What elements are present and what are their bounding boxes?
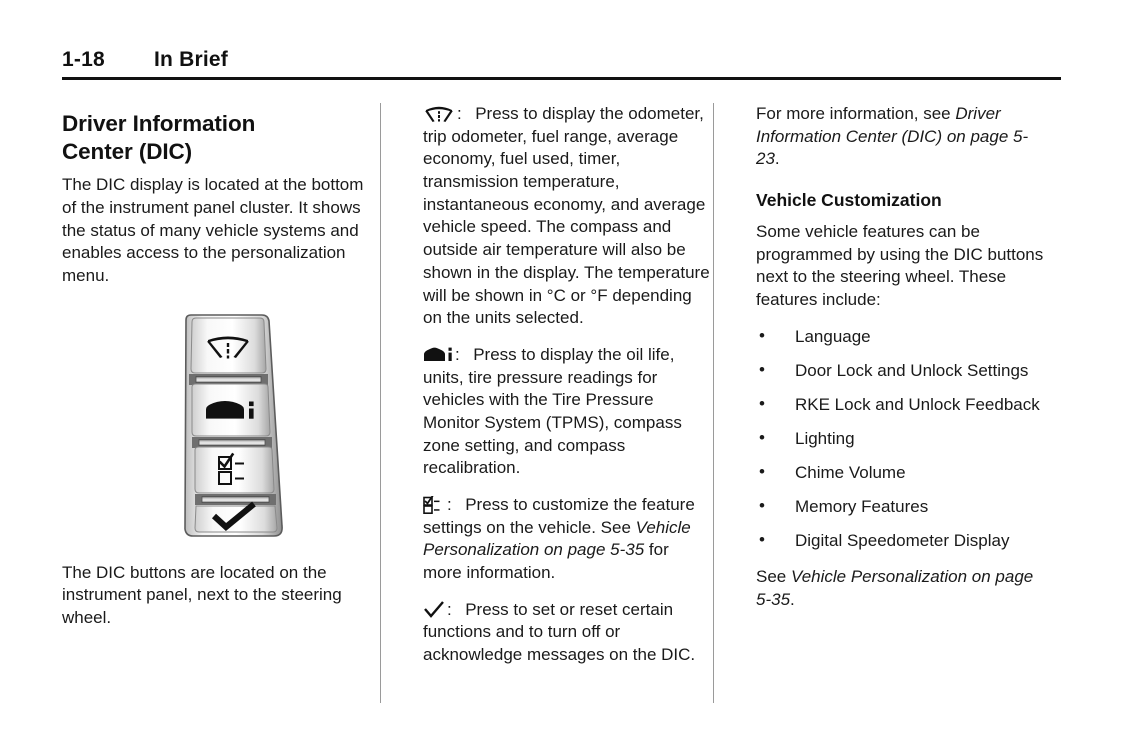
list-item: •Chime Volume [756, 462, 1045, 485]
vehicle-info-icon [423, 346, 453, 364]
see-paragraph-before: See [756, 567, 791, 586]
customization-feature-list: •Language •Door Lock and Unlock Settings… [756, 326, 1045, 553]
bullet-glyph: • [759, 427, 765, 450]
header-row: 1-18 In Brief [62, 48, 1061, 72]
section-heading-line-2: Center (DIC) [62, 139, 192, 164]
list-item: •RKE Lock and Unlock Feedback [756, 394, 1045, 417]
manual-page: 1-18 In Brief Driver InformationCenter (… [0, 0, 1123, 750]
section-heading: Driver InformationCenter (DIC) [62, 110, 379, 165]
dic-item-vehicle-info: : Press to display the oil life, units, … [423, 344, 712, 480]
vehicle-customization-intro: Some vehicle features can be programmed … [756, 221, 1045, 312]
bullet-glyph: • [759, 393, 765, 416]
bullet-glyph: • [759, 325, 765, 348]
bullet-glyph: • [759, 529, 765, 552]
dic-item-set-reset: : Press to set or reset certain function… [423, 599, 712, 667]
list-item: •Door Lock and Unlock Settings [756, 360, 1045, 383]
customization-checklist-icon [423, 496, 445, 514]
more-information-after: . [775, 149, 780, 168]
column-3: For more information, see Driver Informa… [728, 103, 1061, 703]
page-number: 1-18 [62, 48, 154, 72]
list-item: •Lighting [756, 428, 1045, 451]
list-item-label: Language [795, 327, 871, 346]
bullet-glyph: • [759, 461, 765, 484]
header-rule [62, 77, 1061, 80]
content-columns: Driver InformationCenter (DIC) The DIC d… [62, 103, 1061, 703]
page-title: In Brief [154, 48, 228, 72]
section-heading-line-1: Driver Information [62, 111, 255, 136]
list-item-label: RKE Lock and Unlock Feedback [795, 395, 1040, 414]
page-header: 1-18 In Brief [62, 48, 1061, 80]
list-item: •Language [756, 326, 1045, 349]
bullet-glyph: • [759, 495, 765, 518]
see-vehicle-personalization-paragraph: See Vehicle Personalization on page 5-35… [756, 566, 1045, 611]
list-item-label: Lighting [795, 429, 855, 448]
column-1: Driver InformationCenter (DIC) The DIC d… [62, 103, 395, 703]
intro-paragraph: The DIC display is located at the bottom… [62, 174, 379, 287]
see-paragraph-after: . [790, 590, 795, 609]
column-2: : Press to display the odometer, trip od… [395, 103, 728, 703]
list-item-label: Memory Features [795, 497, 928, 516]
list-item: •Memory Features [756, 496, 1045, 519]
figure-caption: The DIC buttons are located on the instr… [62, 562, 379, 630]
vehicle-customization-heading: Vehicle Customization [756, 190, 1045, 212]
bullet-glyph: • [759, 359, 765, 382]
more-information-before: For more information, see [756, 104, 955, 123]
dic-item-customization: : Press to customize the feature setting… [423, 494, 712, 585]
road-icon [423, 105, 455, 123]
list-item-label: Door Lock and Unlock Settings [795, 361, 1028, 380]
dic-button-pod [170, 314, 286, 542]
dic-button-pod-figure [62, 314, 379, 542]
dic-item-road: : Press to display the odometer, trip od… [423, 103, 712, 330]
checkmark-icon [423, 601, 445, 618]
list-item: •Digital Speedometer Display [756, 530, 1045, 553]
dic-item-vehicle-info-text: Press to display the oil life, units, ti… [423, 345, 682, 477]
more-information-paragraph: For more information, see Driver Informa… [756, 103, 1045, 171]
dic-item-road-text: Press to display the odometer, trip odom… [423, 104, 710, 327]
list-item-label: Digital Speedometer Display [795, 531, 1010, 550]
list-item-label: Chime Volume [795, 463, 906, 482]
reference-vehicle-personalization: Vehicle Personalization on page 5-35 [756, 567, 1033, 609]
